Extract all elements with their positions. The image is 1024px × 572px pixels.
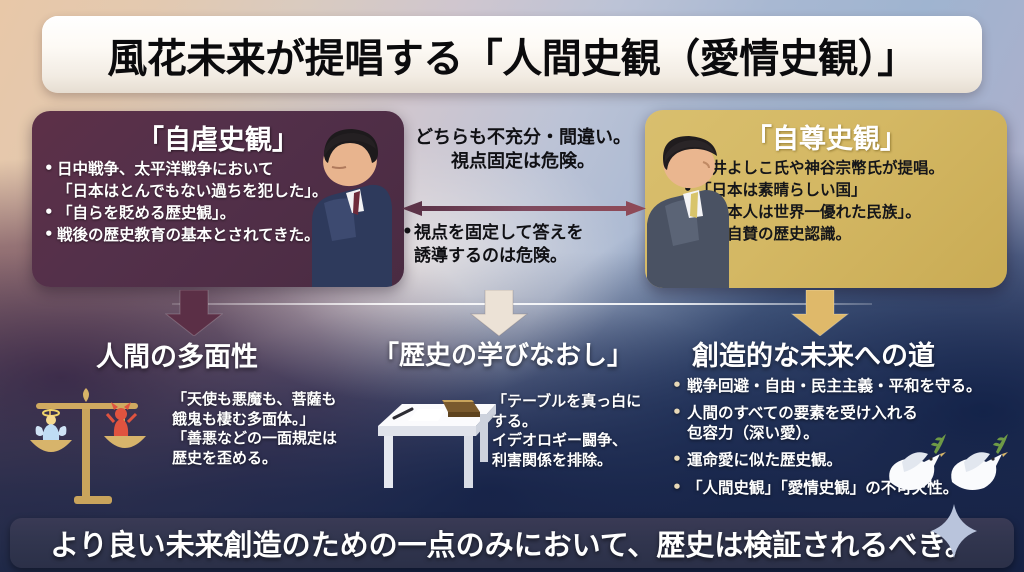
footer-text: より良い未来創造のための一点のみにおいて、歴史は検証されるべき。 [50,522,974,564]
page-title: 風花未来が提唱する「人間史観（愛情史観）」 [107,26,917,84]
section-heading-rekishi-manabinaoshi: 「歴史の学びなおし」 [373,335,633,372]
down-arrow-icon-center [470,290,528,336]
middle-top-line-1: どちらも不充分・間違い。 [398,126,648,150]
text-line: 利害関係を排除。 [492,451,660,471]
text-line: 「テーブルを真っ白に [492,392,660,412]
middle-top-caption: どちらも不充分・間違い。 視点固定は危険。 [398,126,648,174]
section-text-ningen-no-tamensei: 「天使も悪魔も、菩薩も 餓鬼も棲む多面体。」 「善悪などの一面規定は 歴史を歪め… [172,390,372,468]
panel-jigyaku-shikan: 「自虐史観」 日中戦争、太平洋戦争において 「日本はとんでもない過ちを犯した」。… [32,111,404,287]
text-line: イデオロギー闘争、 [492,431,660,451]
middle-bullet-line-1: 視点を固定して答えを [400,222,650,245]
double-headed-arrow-icon [402,200,646,218]
peace-doves-icon [884,432,1012,504]
text-line: 歴史を歪める。 [172,449,372,469]
infographic-canvas: 風花未来が提唱する「人間史観（愛情史観）」 「自虐史観」 日中戦争、太平洋戦争に… [0,0,1024,572]
middle-top-line-2: 視点固定は危険。 [398,150,648,174]
bowing-man-icon [294,117,398,287]
middle-bottom-caption: 視点を固定して答えを 誘導するのは危険。 [400,222,650,268]
title-bar: 風花未来が提唱する「人間史観（愛情史観）」 [42,16,982,93]
down-arrow-icon-right [791,290,849,336]
panel-jison-shikan: 「自尊史観」 櫻井よしこ氏や神谷宗幣氏が提唱。 「日本は素晴らしい国」 「日本人… [645,110,1007,288]
down-arrow-icon-left [165,290,223,336]
section-text-rekishi-manabinaoshi: 「テーブルを真っ白に する。 イデオロギー闘争、 利害関係を排除。 [492,392,660,470]
middle-bullet-line-2: 誘導するのは危険。 [400,245,650,268]
sparkle-icon [930,504,978,558]
footer-banner: より良い未来創造のための一点のみにおいて、歴史は検証されるべき。 [10,518,1014,568]
list-item: 戦争回避・自由・民主主義・平和を守る。 [672,376,1024,396]
proud-man-icon [645,128,741,288]
list-item: 人間のすべての要素を受け入れる [672,403,1024,423]
text-line: 「天使も悪魔も、菩薩も [172,390,372,410]
section-heading-ningen-no-tamensei: 人間の多面性 [96,335,258,374]
text-line: 「善悪などの一面規定は [172,429,372,449]
section-heading-sozoteki-mirai: 創造的な未来への道 [692,334,935,373]
balance-scale-angel-devil-icon [20,378,166,514]
text-line: 餓鬼も棲む多面体。」 [172,410,372,430]
desk-book-pen-icon [372,386,502,496]
text-line: する。 [492,412,660,432]
